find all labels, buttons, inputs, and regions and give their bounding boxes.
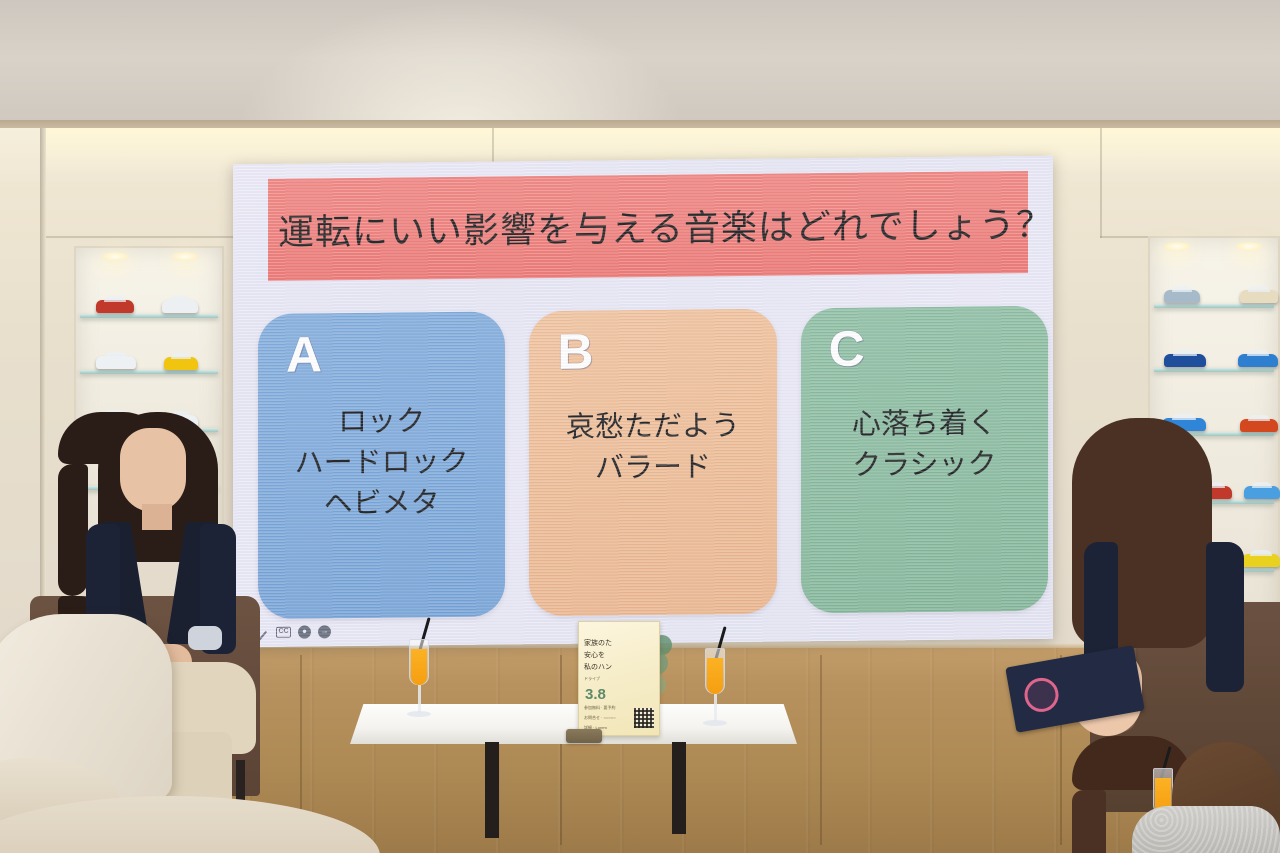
glass-shelf — [1154, 368, 1274, 372]
wainscot-seam-3 — [820, 655, 822, 845]
poster-date: 3.8 — [585, 686, 606, 703]
wall-left-edge — [40, 128, 46, 648]
audience-member-sweater — [1132, 806, 1280, 853]
slide-title-band: 運転にいい影響を与える音楽はどれでしょう？ — [268, 171, 1028, 281]
poster-line-1: 家族のた — [584, 638, 612, 648]
wainscot-seam-2 — [560, 655, 562, 845]
case-spotlight — [102, 252, 128, 261]
poster-detail-2: お問合せ · ○○○○○ — [584, 715, 616, 721]
closed-caption-icon[interactable]: CC — [276, 626, 291, 637]
model-car — [1240, 290, 1278, 303]
glass-foot — [407, 711, 431, 717]
card-text-b: 哀愁ただよう バラード — [529, 405, 776, 490]
scene-photo: 運転にいい影響を与える音楽はどれでしょう？ A ロック ハードロック ヘビメタ … — [0, 0, 1280, 853]
ceiling — [0, 0, 1280, 128]
blazer-sleeve-right — [1206, 542, 1244, 692]
next-arrow-icon[interactable]: → — [318, 625, 331, 638]
model-car — [164, 357, 198, 370]
poster-subtitle: ドライブ — [584, 676, 600, 682]
answer-card-a[interactable]: A ロック ハードロック ヘビメタ — [258, 311, 505, 619]
card-text-c: 心落ち着く クラシック — [801, 402, 1048, 487]
card-letter-b: B — [557, 327, 593, 377]
small-table-object — [566, 729, 602, 743]
folder-logo — [1022, 675, 1061, 714]
glass-shelf — [1154, 304, 1274, 308]
case-spotlight — [172, 252, 198, 261]
model-car — [1164, 354, 1206, 367]
orange-juice — [411, 649, 427, 685]
wall-seam-4 — [46, 236, 236, 238]
glass-stem — [714, 694, 717, 722]
card-line: 心落ち着く — [801, 402, 1048, 446]
model-car — [96, 356, 136, 369]
hair-side-left — [58, 464, 88, 596]
wall-seam-2 — [1100, 128, 1102, 238]
card-letter-c: C — [829, 324, 865, 374]
glass-shelf — [80, 314, 218, 318]
slide: 運転にいい影響を与える音楽はどれでしょう？ A ロック ハードロック ヘビメタ … — [233, 156, 1053, 648]
answer-card-b[interactable]: B 哀愁ただよう バラード — [529, 309, 776, 617]
model-car — [1238, 354, 1278, 367]
table-leg-right — [672, 742, 686, 834]
juice-glass-left — [404, 639, 434, 723]
face — [120, 428, 186, 512]
model-car — [96, 300, 134, 313]
card-line: クラシック — [801, 443, 1048, 487]
ceiling-light-glow — [230, 0, 690, 126]
card-line: ロック — [258, 399, 505, 443]
card-line: ハードロック — [258, 441, 505, 485]
juice-glass-right — [700, 648, 730, 732]
card-letter-a: A — [286, 329, 322, 379]
hair-side-left — [1072, 790, 1106, 853]
table-leg-left — [485, 742, 499, 838]
orange-juice — [707, 658, 723, 694]
case-spotlight — [1164, 242, 1190, 251]
sweater-texture — [1132, 806, 1280, 853]
event-poster: 家族のた 安心を 私のハン ドライブ 3.8 参加無料 · 要予約 お問合せ ·… — [578, 621, 660, 736]
projection-screen: 運転にいい影響を与える音楽はどれでしょう？ A ロック ハードロック ヘビメタ … — [233, 156, 1053, 648]
answer-cards: A ロック ハードロック ヘビメタ B 哀愁ただよう バラード — [258, 306, 1048, 619]
glass-foot — [703, 720, 727, 726]
globe-icon[interactable]: ● — [298, 625, 311, 638]
card-line: ヘビメタ — [258, 482, 505, 526]
model-car — [1164, 290, 1200, 303]
answer-card-c[interactable]: C 心落ち着く クラシック — [801, 306, 1048, 614]
poster-eyebrow — [584, 629, 600, 635]
slide-title: 運転にいい影響を与える音楽はどれでしょう？ — [278, 196, 1053, 256]
card-line: 哀愁ただよう — [529, 405, 776, 449]
shirt-cuff-right — [188, 626, 222, 650]
model-car — [162, 300, 198, 313]
poster-detail-1: 参加無料 · 要予約 — [584, 705, 616, 711]
poster-line-2: 安心を — [584, 650, 605, 660]
card-line: バラード — [529, 446, 776, 490]
glass-stem — [418, 685, 421, 713]
glass-shelf — [80, 370, 218, 374]
case-spotlight — [1236, 242, 1262, 251]
card-text-a: ロック ハードロック ヘビメタ — [258, 399, 505, 525]
poster-line-3: 私のハン — [584, 662, 612, 672]
qr-code-icon — [634, 708, 654, 728]
